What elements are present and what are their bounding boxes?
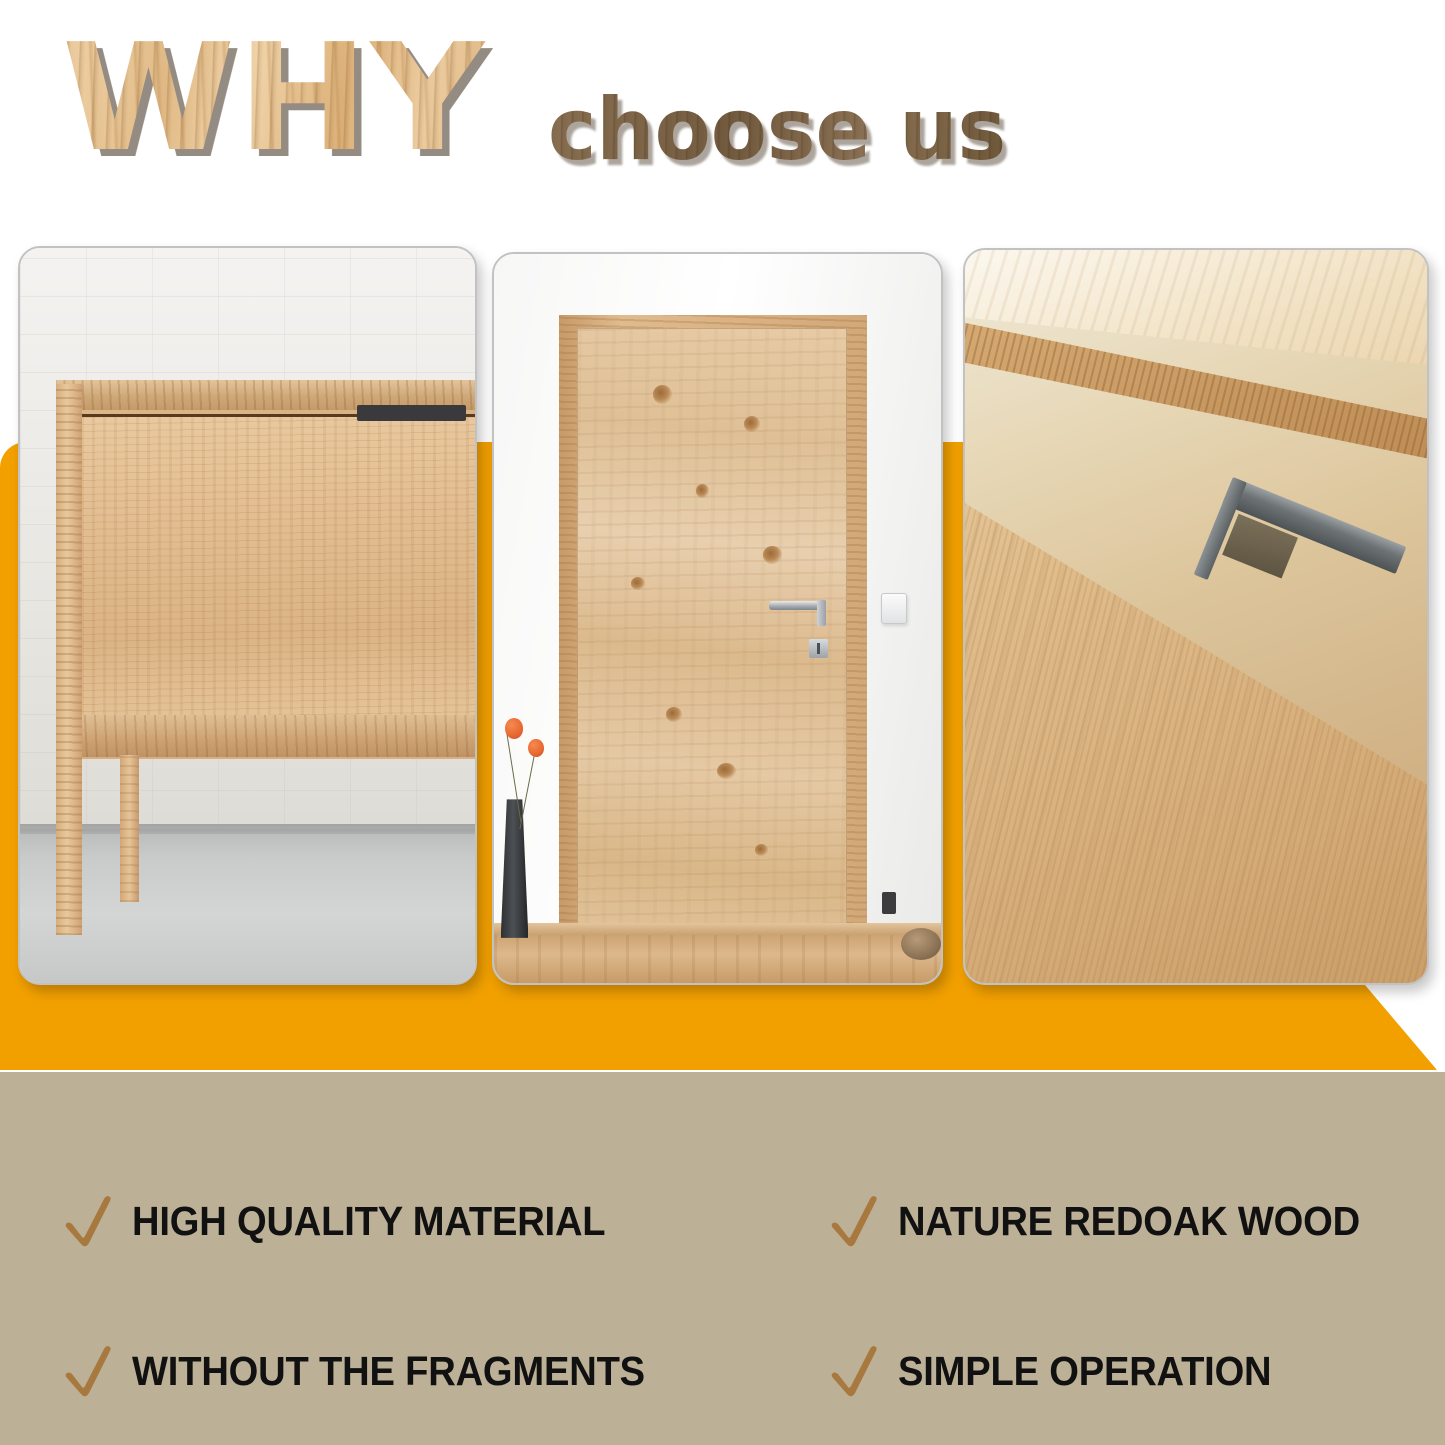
gallery-card-oak-door[interactable] — [492, 252, 943, 985]
cabinet-center-leg — [120, 755, 139, 902]
wood-knot — [653, 385, 672, 404]
feature-label: HIGH QUALITY MATERIAL — [132, 1199, 605, 1243]
cabinet-door-panel — [81, 414, 475, 725]
poppy-flower — [505, 718, 524, 739]
feature-label: NATURE REDOAK WOOD — [898, 1199, 1360, 1243]
concrete-floor — [20, 829, 475, 983]
door-stop — [882, 892, 896, 914]
poppy-flower — [528, 739, 544, 757]
wood-knot — [763, 546, 782, 563]
oak-door-photo — [494, 254, 941, 983]
wood-knot — [755, 844, 768, 856]
decor-stone — [901, 928, 941, 960]
cabinet-bar-handle — [357, 405, 466, 421]
check-icon — [828, 1342, 884, 1400]
feature-item-simple-operation: SIMPLE OPERATION — [828, 1342, 1300, 1400]
wood-knot — [631, 577, 644, 589]
gallery-card-oak-sideboard[interactable] — [18, 246, 477, 985]
feature-label: WITHOUT THE FRAGMENTS — [132, 1349, 645, 1393]
door-handle-rose — [817, 600, 826, 626]
door-lever-handle — [769, 601, 823, 610]
wood-knot — [666, 707, 682, 722]
feature-item-nature-redoak-wood: NATURE REDOAK WOOD — [828, 1192, 1395, 1250]
oak-edge-handle-photo — [965, 250, 1427, 983]
wood-knot — [717, 763, 736, 779]
wood-knot — [744, 416, 760, 432]
heading-word-why: WHY — [62, 24, 486, 172]
feature-item-without-the-fragments: WITHOUT THE FRAGMENTS — [62, 1342, 684, 1400]
door-lock-keyhole — [809, 639, 828, 658]
gallery-card-oak-edge-handle[interactable] — [963, 248, 1429, 985]
light-switch — [881, 593, 907, 624]
check-icon — [62, 1342, 118, 1400]
check-icon — [62, 1192, 118, 1250]
features-list: HIGH QUALITY MATERIAL NATURE REDOAK WOOD… — [0, 1072, 1445, 1445]
oak-door-leaf — [577, 328, 847, 950]
check-icon — [828, 1192, 884, 1250]
cabinet-bottom-rail — [56, 715, 475, 756]
wood-knot — [696, 484, 709, 498]
feature-item-high-quality-material: HIGH QUALITY MATERIAL — [62, 1192, 641, 1250]
wood-floor — [494, 935, 941, 983]
heading-word-choose-us: choose us — [548, 85, 1006, 175]
oak-sideboard-photo — [20, 248, 475, 983]
cabinet-left-leg — [56, 384, 81, 935]
feature-label: SIMPLE OPERATION — [898, 1349, 1271, 1393]
why-choose-us-graphic: WHY choose us — [0, 0, 1445, 1445]
page-heading: WHY choose us — [0, 0, 1445, 230]
